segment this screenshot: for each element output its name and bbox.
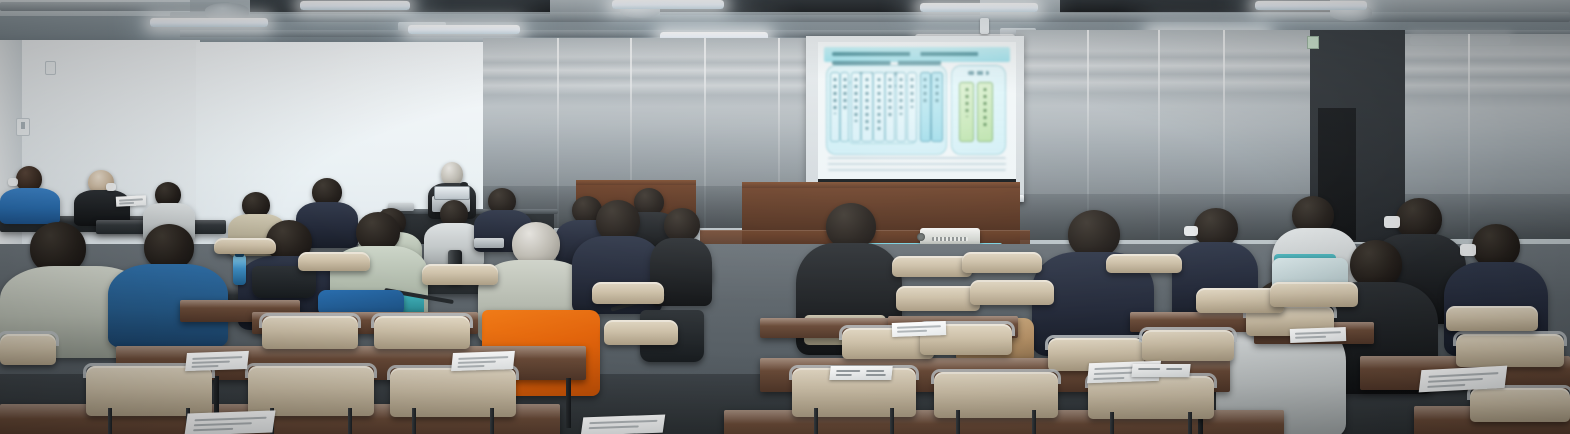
slide-main-group xyxy=(826,65,947,155)
ceiling-light-2 xyxy=(300,1,410,10)
slide-column-4 xyxy=(861,72,873,142)
handout-sheet xyxy=(116,195,146,207)
chair[interactable] xyxy=(298,252,370,278)
slide-column-3 xyxy=(851,72,861,142)
chair[interactable] xyxy=(1470,388,1570,434)
chair[interactable] xyxy=(892,256,972,284)
attendee-body xyxy=(0,188,60,224)
slide-output-header xyxy=(968,71,989,75)
ceiling-light-3 xyxy=(408,25,520,34)
face-mask xyxy=(1184,226,1198,236)
slide-output-column-2 xyxy=(977,82,993,142)
chair[interactable] xyxy=(422,264,498,292)
slide-column-1 xyxy=(830,72,839,142)
chair[interactable] xyxy=(970,280,1054,314)
ceiling-light-4 xyxy=(612,0,724,9)
chair[interactable] xyxy=(1088,376,1214,434)
podium-top xyxy=(742,182,1020,188)
chair[interactable] xyxy=(1106,254,1182,280)
list-item xyxy=(108,224,228,342)
face-mask xyxy=(8,178,18,186)
chair[interactable] xyxy=(1270,282,1358,316)
chair[interactable] xyxy=(604,320,678,354)
handout-sheet[interactable] xyxy=(1419,366,1508,393)
list-item xyxy=(0,166,60,222)
attendee-head xyxy=(1068,210,1120,258)
face-mask xyxy=(1460,244,1476,256)
chair[interactable] xyxy=(0,334,56,376)
presentation-slide xyxy=(818,42,1016,179)
chair[interactable] xyxy=(262,316,358,360)
cabinet-left-top xyxy=(576,180,696,185)
handout-sheet[interactable] xyxy=(581,415,665,434)
light-switch-plate[interactable] xyxy=(16,118,30,136)
handout-sheet[interactable] xyxy=(892,321,946,337)
wall-sensor xyxy=(45,61,56,75)
chair[interactable] xyxy=(934,372,1058,434)
handout-sheet[interactable] xyxy=(185,351,249,371)
chair[interactable] xyxy=(896,286,980,320)
attendee-head xyxy=(664,208,700,242)
ceiling-beam-left xyxy=(0,2,230,11)
slide-column-9 xyxy=(920,72,932,142)
exit-sign xyxy=(1307,36,1319,49)
slide-column-10 xyxy=(931,72,943,142)
slide-column-6 xyxy=(885,72,895,142)
chair[interactable] xyxy=(962,252,1042,280)
name-card xyxy=(829,366,892,380)
chair[interactable] xyxy=(592,282,664,312)
slide-column-2 xyxy=(840,72,849,142)
face-mask xyxy=(1384,216,1400,228)
chair[interactable] xyxy=(390,368,516,434)
slide-column-7 xyxy=(896,72,906,142)
smoke-detector xyxy=(980,18,989,34)
slide-footnote xyxy=(828,157,1006,171)
slide-output-group xyxy=(951,65,1006,155)
metal-panel-wall-right xyxy=(1016,30,1312,240)
handout-sheet[interactable] xyxy=(184,410,275,434)
slide-column-5 xyxy=(873,72,885,142)
ceiling-light-6 xyxy=(920,3,1038,12)
name-card xyxy=(1131,364,1190,377)
handout-sheet[interactable] xyxy=(1290,327,1346,343)
ceiling-light-1 xyxy=(150,18,268,27)
chair[interactable] xyxy=(214,238,276,260)
lecture-hall-photo xyxy=(0,0,1570,434)
attendee-head xyxy=(1350,240,1402,288)
table-leg xyxy=(566,378,571,428)
handout-sheet[interactable] xyxy=(451,351,515,371)
ceiling-light-9 xyxy=(1255,1,1367,10)
face-mask xyxy=(106,183,116,191)
slide-output-column-1 xyxy=(959,82,974,142)
slide-title-banner xyxy=(824,47,1010,62)
slide-column-8 xyxy=(907,72,917,142)
chair[interactable] xyxy=(1446,306,1538,340)
projection-screen-surface xyxy=(818,42,1016,179)
